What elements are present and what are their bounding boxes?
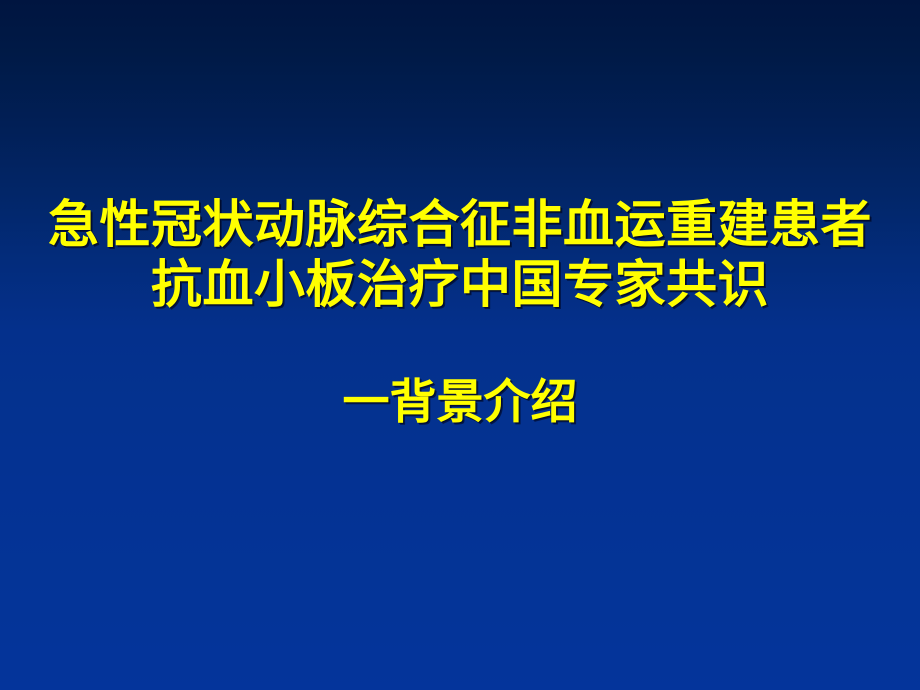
slide-title: 急性冠状动脉综合征非血运重建患者 抗血小板治疗中国专家共识	[0, 196, 920, 316]
slide-subtitle-line-1: 一背景介绍	[0, 376, 920, 430]
slide-subtitle: 一背景介绍	[0, 376, 920, 430]
slide-content-area: 急性冠状动脉综合征非血运重建患者 抗血小板治疗中国专家共识 一背景介绍	[0, 0, 920, 690]
slide-title-line-2: 抗血小板治疗中国专家共识	[0, 256, 920, 316]
presentation-slide: 急性冠状动脉综合征非血运重建患者 抗血小板治疗中国专家共识 一背景介绍	[0, 0, 920, 690]
slide-title-subtitle-spacer	[0, 316, 920, 376]
slide-title-line-1: 急性冠状动脉综合征非血运重建患者	[0, 196, 920, 256]
